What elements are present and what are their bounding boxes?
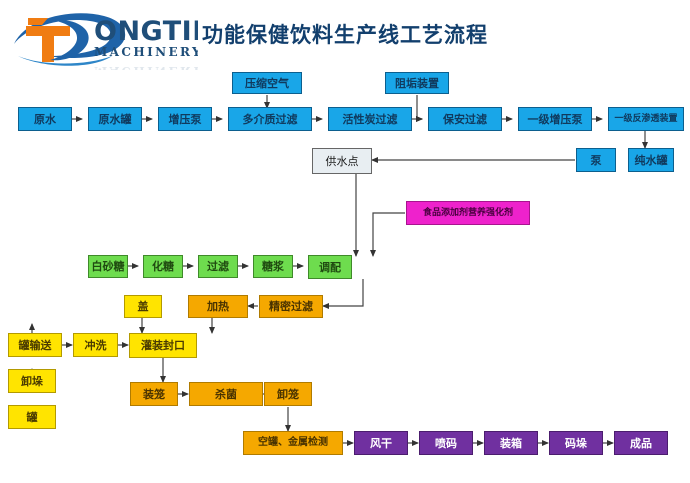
node-coding[interactable]: 喷码 [419,431,473,455]
node-blending[interactable]: 调配 [308,255,352,279]
node-multimedia-filter[interactable]: 多介质过滤 [228,107,312,131]
node-booster-pump[interactable]: 增压泵 [158,107,212,131]
node-depalletizing[interactable]: 卸垛 [8,369,56,393]
node-cap[interactable]: 盖 [124,295,162,318]
node-white-sugar[interactable]: 白砂糖 [88,255,128,278]
node-raw-water[interactable]: 原水 [18,107,72,131]
node-food-additive[interactable]: 食品添加剂营养强化剂 [406,201,530,225]
node-security-filter[interactable]: 保安过滤 [428,107,502,131]
node-pump[interactable]: 泵 [576,148,616,172]
connector-lines [0,0,690,483]
node-water-supply-point[interactable]: 供水点 [312,148,372,174]
node-boxing[interactable]: 装箱 [484,431,538,455]
node-pure-water-tank[interactable]: 纯水罐 [628,148,674,172]
node-rinsing[interactable]: 冲洗 [73,333,118,357]
node-sterilization[interactable]: 杀菌 [189,382,263,406]
node-compressed-air[interactable]: 压缩空气 [232,72,302,94]
node-syrup[interactable]: 糖浆 [253,255,293,278]
flowchart-canvas: ONGTIE MACHINERY MACHINERY 功能保健饮料生产线工艺流程 [0,0,690,483]
node-finished-product[interactable]: 成品 [614,431,668,455]
node-fine-filtration[interactable]: 精密过滤 [259,295,323,318]
node-raw-water-tank[interactable]: 原水罐 [88,107,142,131]
node-filtration[interactable]: 过滤 [198,255,238,278]
node-stage1-ro-unit[interactable]: 一级反渗透装置 [608,107,684,131]
node-antiscalant-device[interactable]: 阻垢装置 [385,72,449,94]
node-can-conveying[interactable]: 罐输送 [8,333,62,357]
node-activated-carbon-filter[interactable]: 活性炭过滤 [328,107,412,131]
node-cage-unloading[interactable]: 卸笼 [264,382,312,406]
node-filling-sealing[interactable]: 灌装封口 [129,333,197,358]
node-heating[interactable]: 加热 [188,295,248,318]
node-stage1-booster-pump[interactable]: 一级增压泵 [518,107,592,131]
node-air-drying[interactable]: 风干 [354,431,408,455]
node-empty-can-metal-detect[interactable]: 空罐、金属检测 [243,431,343,455]
node-palletizing[interactable]: 码垛 [549,431,603,455]
node-can[interactable]: 罐 [8,405,56,429]
node-cage-loading[interactable]: 装笼 [130,382,178,406]
node-sugar-melting[interactable]: 化糖 [143,255,183,278]
